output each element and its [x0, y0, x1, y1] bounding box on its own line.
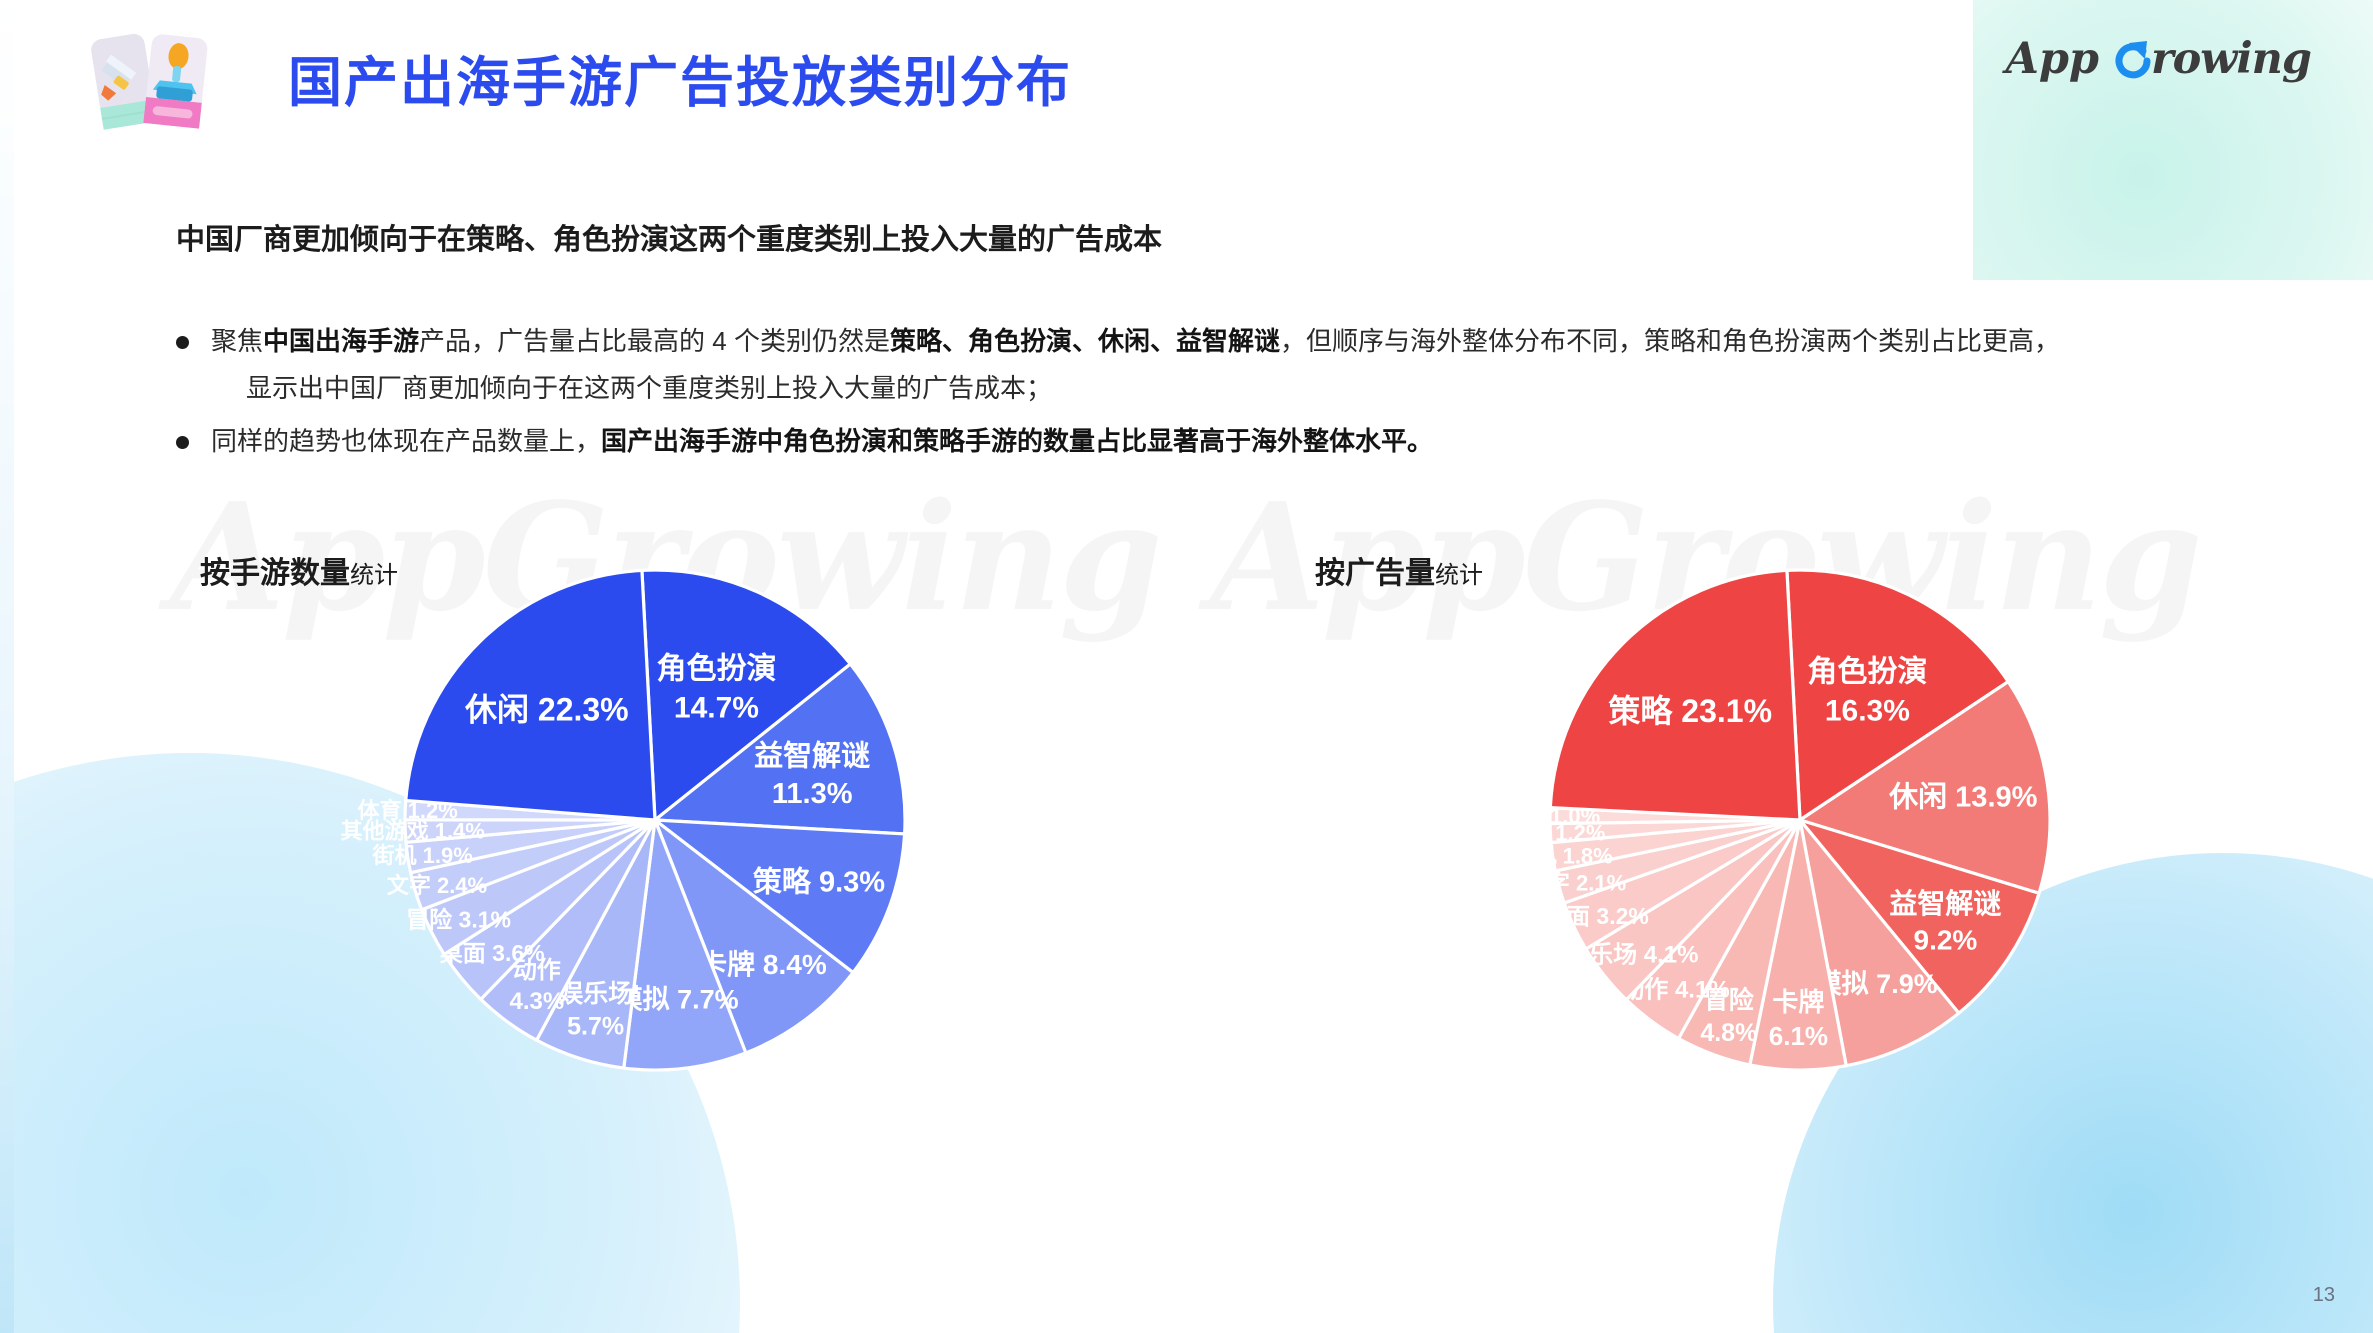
pie-slice-label: 桌面 3.2%	[1544, 903, 1649, 929]
pie-slice-label-value: 6.1%	[1769, 1021, 1828, 1051]
pie-svg: 角色扮演16.3%休闲 13.9%益智解谜9.2%模拟 7.9%卡牌6.1%冒险…	[0, 0, 2373, 1333]
pie-slice-label: 文字 2.1%	[1526, 870, 1626, 895]
pie-slice-label-value: 9.2%	[1914, 925, 1978, 956]
pie-slice-label-name: 卡牌	[1772, 987, 1824, 1017]
pie-slice-label-name: 益智解谜	[1889, 888, 2001, 919]
pie-slice-label-text: 策略 23.1%	[1608, 693, 1772, 729]
pie-slice-label-name: 角色扮演	[1807, 655, 1927, 688]
pie-slice-label-text: 桌面 3.2%	[1544, 903, 1649, 929]
pie-slice-label-value: 4.8%	[1700, 1019, 1757, 1047]
pie-slice-label-value: 16.3%	[1825, 694, 1910, 727]
pie-slice-label: 街机 1.8%	[1511, 843, 1612, 868]
pie-slice-label-text: 文字 2.1%	[1526, 870, 1626, 895]
pie-slice-label-text: 休闲 13.9%	[1888, 781, 2037, 814]
slide-root: AppGrowingAppGrowing	[0, 0, 2373, 1333]
pie-slice-label: 休闲 13.9%	[1888, 781, 2037, 814]
pie-slice-label-text: 街机 1.8%	[1511, 843, 1612, 868]
page-number: 13	[2313, 1284, 2335, 1307]
pie-slice-label: 策略 23.1%	[1608, 693, 1772, 729]
